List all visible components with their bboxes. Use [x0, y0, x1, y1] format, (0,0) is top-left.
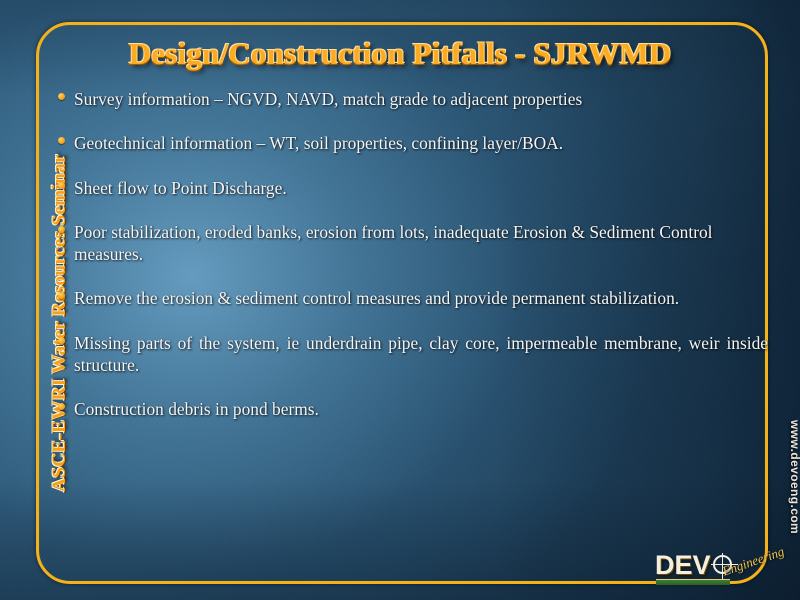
bullet-text: Survey information – NGVD, NAVD, match g…: [74, 88, 768, 110]
bullet-text: Sheet flow to Point Discharge.: [74, 177, 768, 199]
bullet-dot-icon: [58, 337, 65, 344]
bullet-dot-icon: [58, 292, 65, 299]
list-item: Geotechnical information – WT, soil prop…: [58, 132, 768, 154]
bullet-text: Poor stabilization, eroded banks, erosio…: [74, 221, 768, 266]
devo-engineering-logo: DEV Engineering: [655, 548, 775, 594]
bullet-dot-icon: [58, 93, 65, 100]
logo-green-bar: [656, 579, 730, 585]
list-item: Sheet flow to Point Discharge.: [58, 177, 768, 199]
bullet-text: Geotechnical information – WT, soil prop…: [74, 132, 768, 154]
bullet-dot-icon: [58, 137, 65, 144]
slide-canvas: ASCE-EWRI Water Resources Seminar www.de…: [0, 0, 800, 600]
list-item: Construction debris in pond berms.: [58, 398, 768, 420]
bullet-text: Remove the erosion & sediment control me…: [74, 287, 768, 309]
list-item: Poor stabilization, eroded banks, erosio…: [58, 221, 768, 266]
bullet-dot-icon: [58, 226, 65, 233]
list-item: Survey information – NGVD, NAVD, match g…: [58, 88, 768, 110]
right-sidebar-website-label: www.devoeng.com: [788, 382, 800, 572]
slide-title: Design/Construction Pitfalls - SJRWMD: [60, 36, 740, 72]
bullet-list: Survey information – NGVD, NAVD, match g…: [58, 88, 768, 442]
logo-wordmark: DEV: [655, 550, 711, 581]
list-item: Remove the erosion & sediment control me…: [58, 287, 768, 309]
bullet-dot-icon: [58, 182, 65, 189]
list-item: Missing parts of the system, ie underdra…: [58, 332, 768, 377]
bullet-text: Construction debris in pond berms.: [74, 398, 768, 420]
bullet-text: Missing parts of the system, ie underdra…: [74, 332, 768, 377]
bullet-dot-icon: [58, 403, 65, 410]
